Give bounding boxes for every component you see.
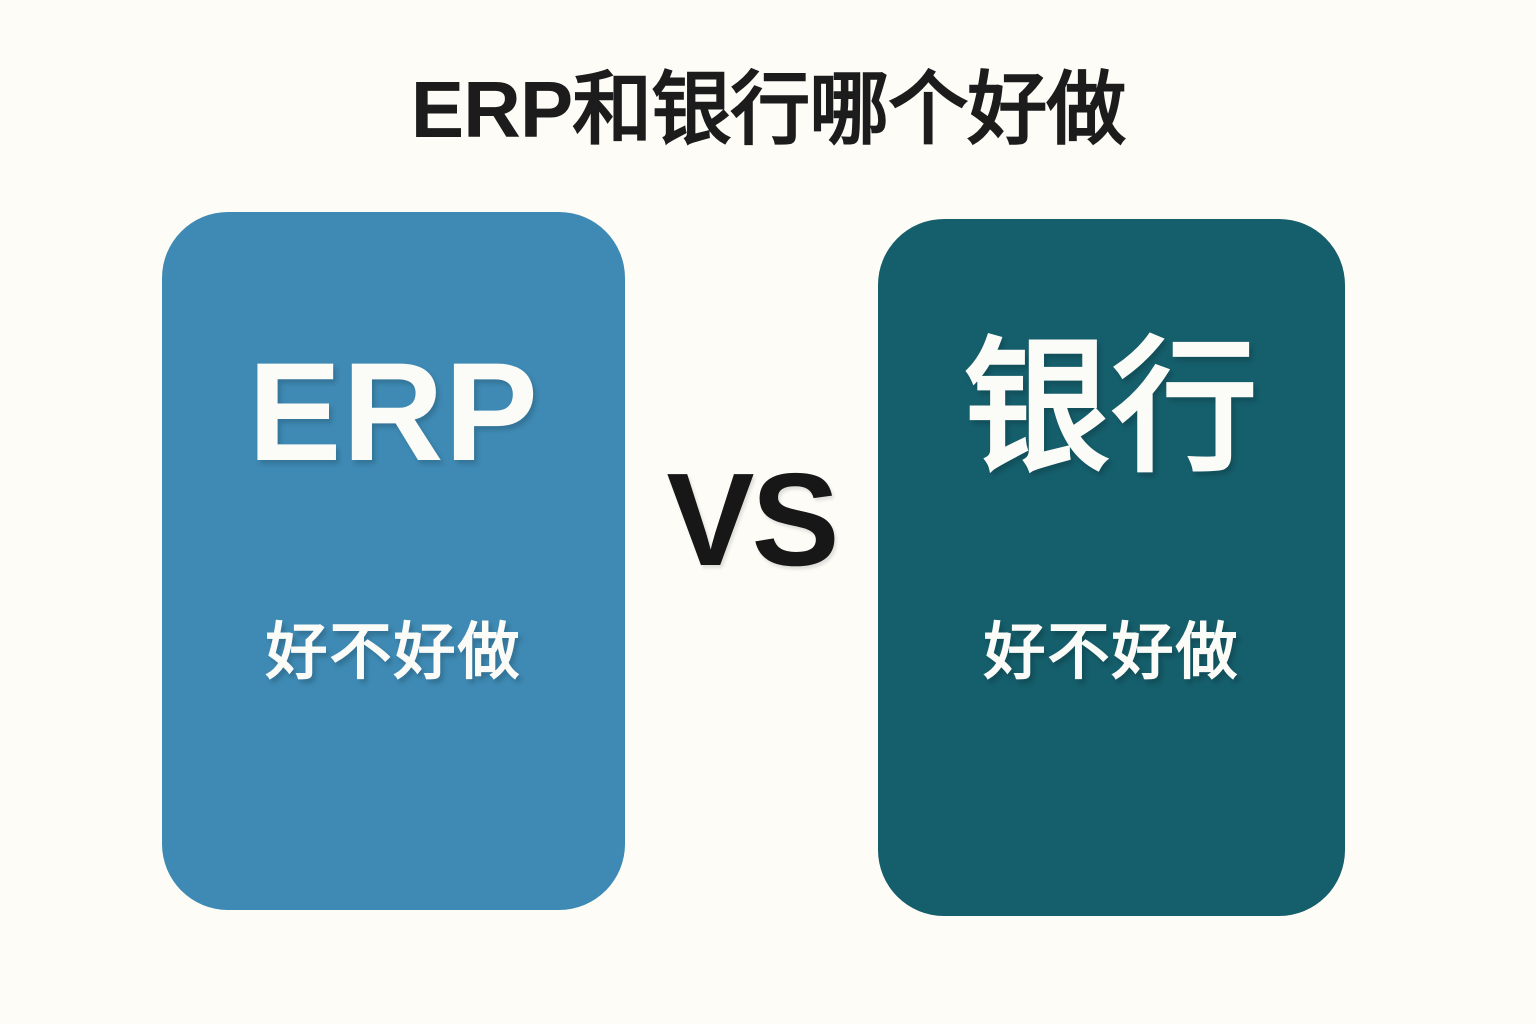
- card-erp-main-label: ERP: [162, 337, 625, 487]
- card-bank-main-label: 银行: [878, 329, 1345, 487]
- comparison-card-bank: 银行 好不好做: [878, 219, 1345, 916]
- page-title: ERP和银行哪个好做: [0, 62, 1536, 158]
- versus-label: VS: [625, 455, 878, 585]
- comparison-card-erp: ERP 好不好做: [162, 212, 625, 910]
- card-bank-sub-label: 好不好做: [878, 617, 1345, 689]
- card-erp-sub-label: 好不好做: [162, 617, 625, 689]
- comparison-graphic: ERP和银行哪个好做 ERP 好不好做 VS 银行 好不好做: [0, 0, 1536, 1024]
